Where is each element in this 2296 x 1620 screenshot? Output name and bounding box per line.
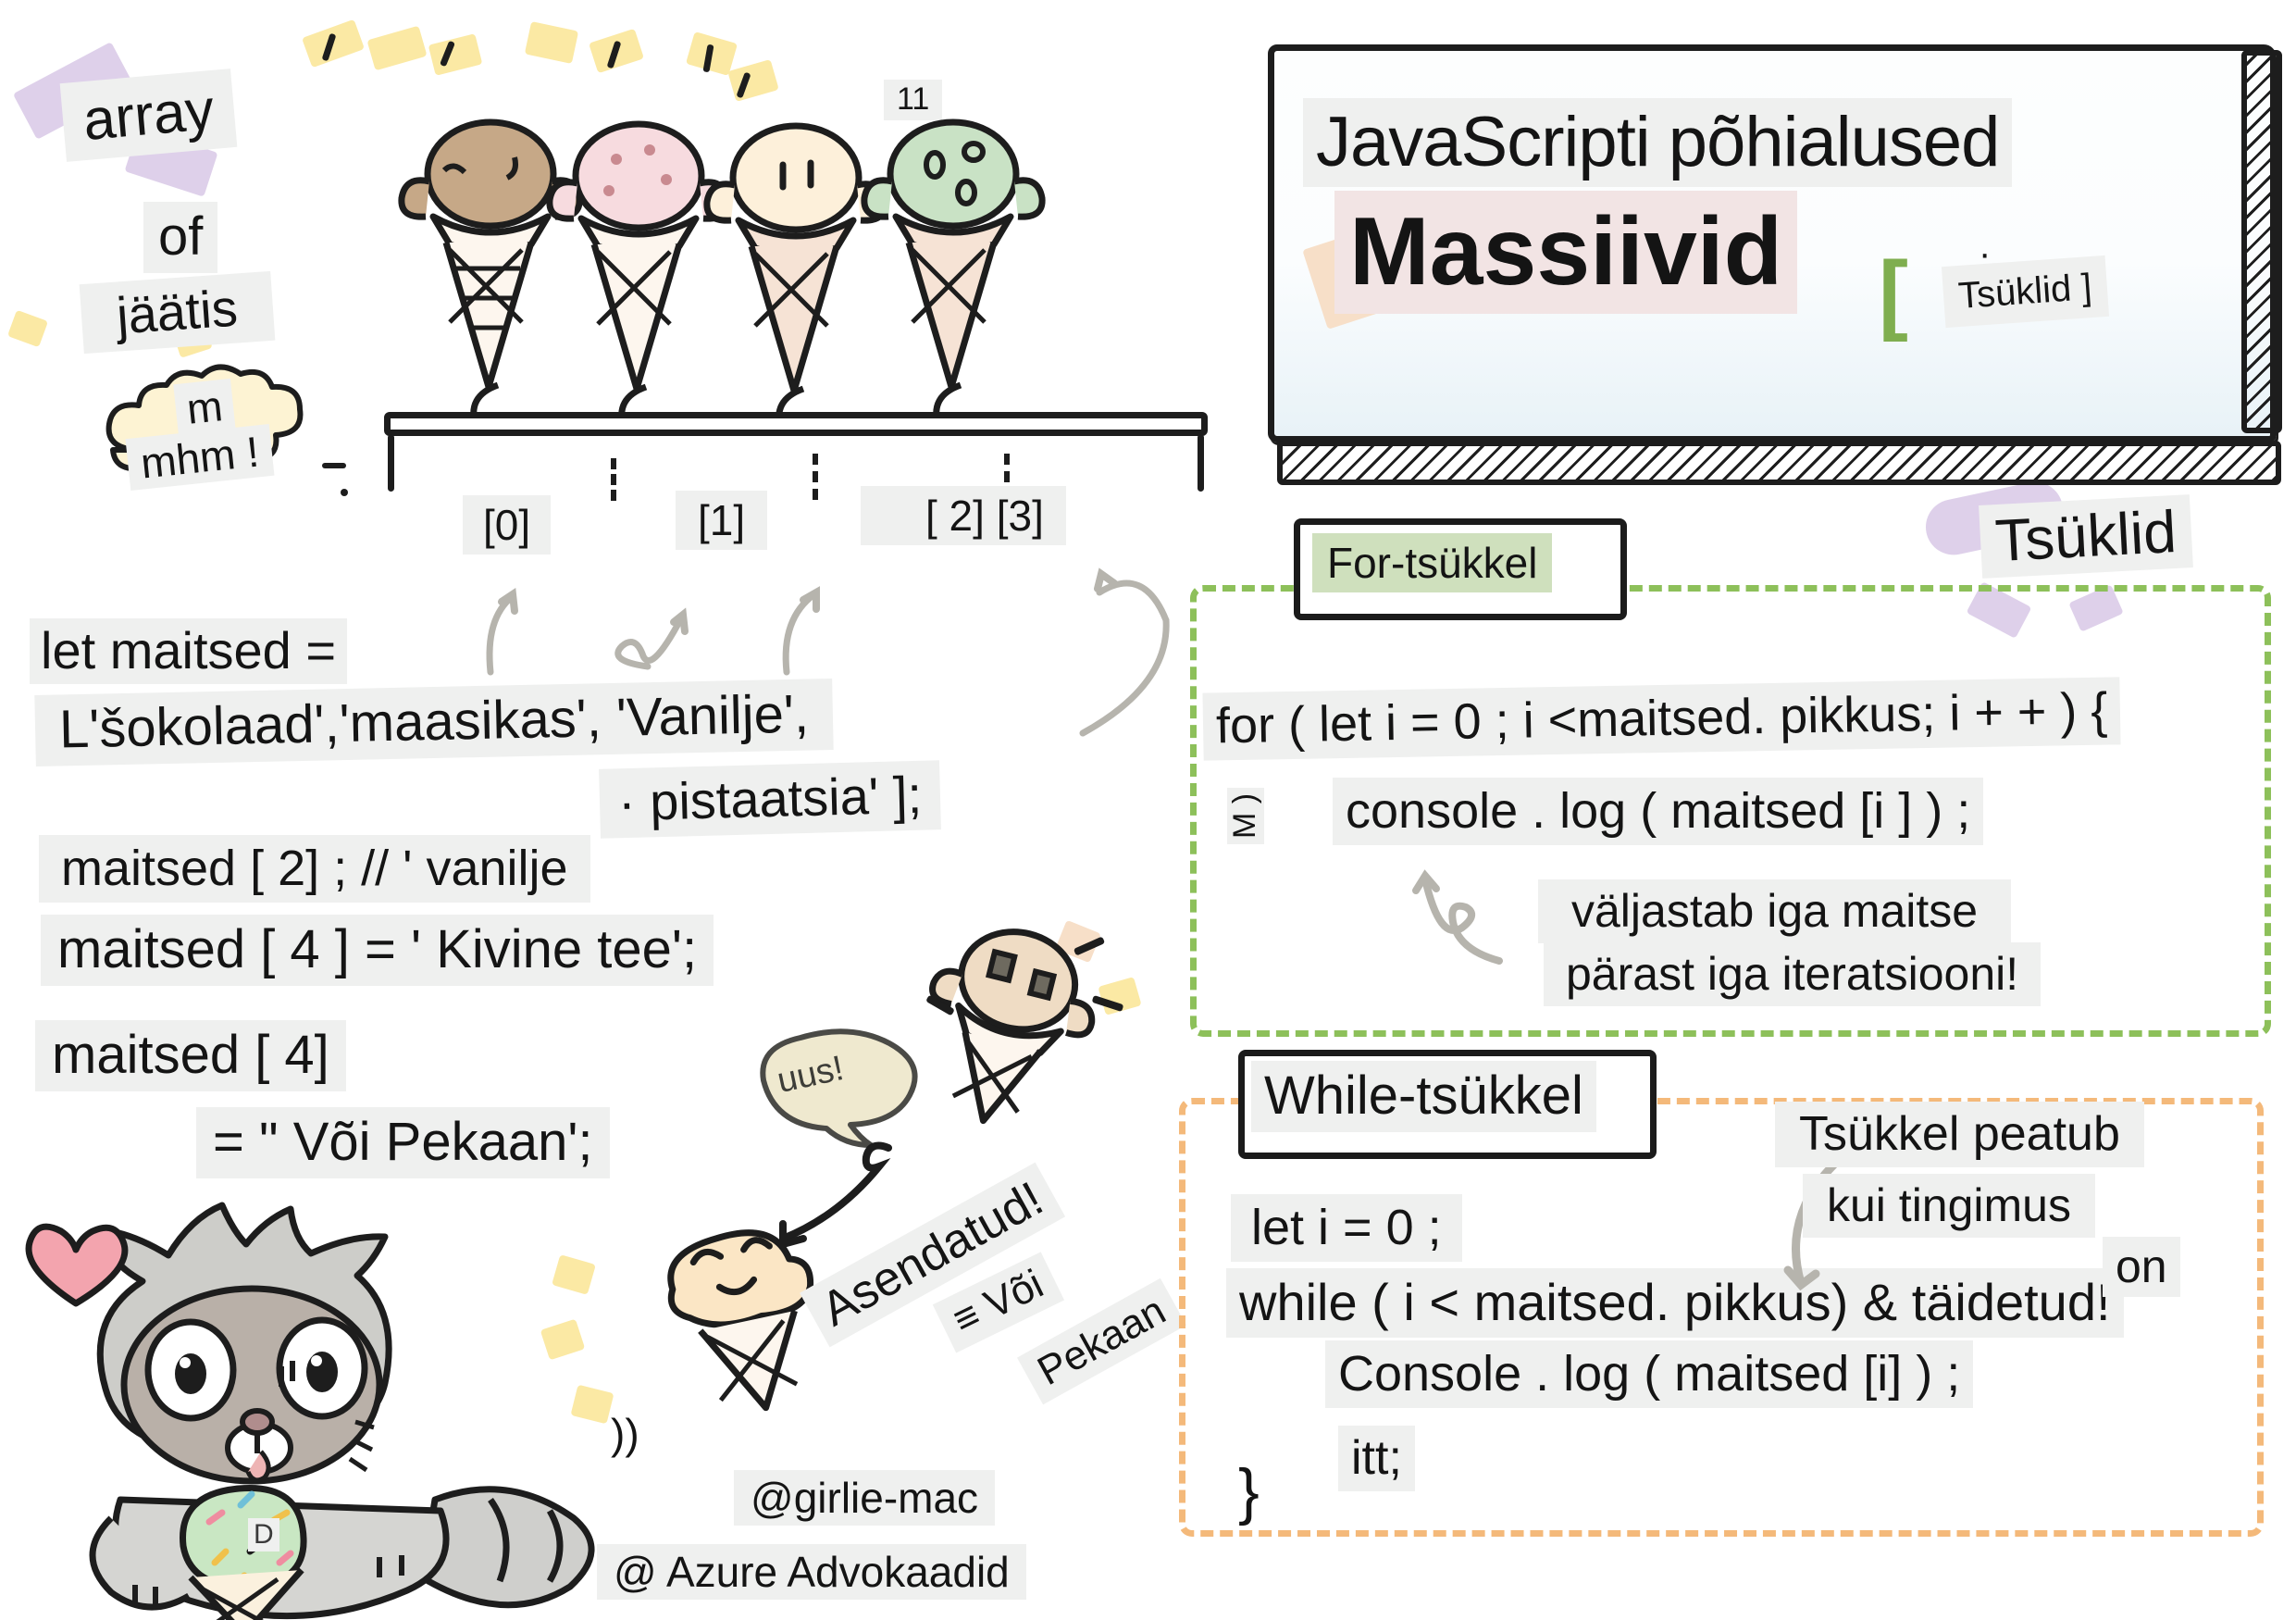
section-heading-tsyklid: Tsüklid [1979,494,2192,579]
artist-mark: D [248,1518,279,1551]
for-loop-note-line-2: pärast iga iteratsiooni! [1544,942,2041,1006]
shelf-leg-left [388,434,394,492]
index-label-1: [1] [676,491,767,550]
code-line-voi-pekaan: = " Või Pekaan'; [196,1107,610,1178]
board-subtitle: Massiivid [1334,191,1797,314]
code-line-values: L'šokolaad','maasikas', 'Vanilje', [34,679,834,766]
index-label-2-3: [ 2] [3] [861,486,1066,545]
credit-org: @ Azure Advokaadid [597,1544,1026,1600]
ice-cream-row [389,120,1222,426]
while-loop-line-1: let i = 0 ; [1231,1194,1462,1262]
open-bracket-glyph: [ [1879,243,1908,344]
label-jaatis: jäätis [80,271,275,354]
confetti-yellow [7,310,48,348]
board-bracket-tag: Tsüklid ] [1942,255,2109,328]
index-arrows [426,555,1259,676]
sketch-mark: )) [611,1409,639,1459]
heart-icon [20,1213,131,1315]
confetti-yellow [552,1254,596,1295]
while-loop-line-4: itt; [1338,1426,1415,1491]
for-loop-closing: M ) [1227,788,1264,844]
bubble-text-new: uus! [774,1049,847,1102]
while-note-line-3: on [2103,1237,2180,1297]
title-board: JavaScripti põhialused Massiivid [1268,44,2277,442]
confetti-yellow [540,1319,586,1361]
while-loop-line-2: while ( i < maitsed. pikkus) & täidetud! [1226,1268,2124,1338]
code-line-read-index2: maitsed [ 2] ; // ' vanilje [39,835,590,903]
label-array: array [60,69,238,162]
code-line-assign-index4: maitsed [ 4 ] = ' Kivine tee'; [41,915,714,986]
code-line-index4: maitsed [ 4] [35,1020,346,1091]
confetti-yellow [525,21,578,64]
for-loop-note-line-1: väljastab iga maitse [1538,879,2011,943]
confetti-yellow [727,59,779,102]
shelf-bar [384,412,1208,436]
shelf-leg-right [1198,434,1204,492]
cloud-trail-dash [341,489,348,496]
while-note-line-1: Tsükkel peatub [1775,1102,2144,1167]
board-title: JavaScripti põhialused [1303,98,2012,187]
while-loop-tag: While-tsükkel [1251,1061,1596,1132]
while-loop-line-3: Console . log ( maitsed [i] ) ; [1325,1340,1973,1408]
array-shelf [384,412,1208,495]
index-tick [813,454,824,500]
confetti-yellow [428,33,483,76]
for-loop-line-2: console . log ( maitsed [i ] ) ; [1333,778,1983,845]
poster-canvas: JavaScripti põhialused Massiivid [ · Tsü… [0,0,2296,1619]
board-ledge [1277,441,2281,485]
cloud-trail-dash [322,463,346,468]
index-tick [611,458,622,501]
index-label-0: [0] [463,495,551,555]
for-loop-tag: For-tsükkel [1312,533,1552,592]
thought-text-mhm: mhm ! [125,424,274,491]
label-of: of [143,202,217,273]
impact-stroke [925,995,955,1016]
confetti-yellow [366,26,427,71]
code-line-declaration: let maitsed = [30,618,347,684]
code-line-values-cont: · pistaatsia' ]; [599,760,941,838]
credit-handle: @girlie-mac [734,1470,995,1526]
while-note-line-2: kui tingimus [1803,1174,2095,1238]
raccoon-illustration [9,1222,620,1620]
page-number: 11 [884,80,942,120]
while-loop-closing: } [1238,1455,1260,1527]
confetti-yellow [570,1385,614,1425]
board-right-rim [2241,50,2282,433]
